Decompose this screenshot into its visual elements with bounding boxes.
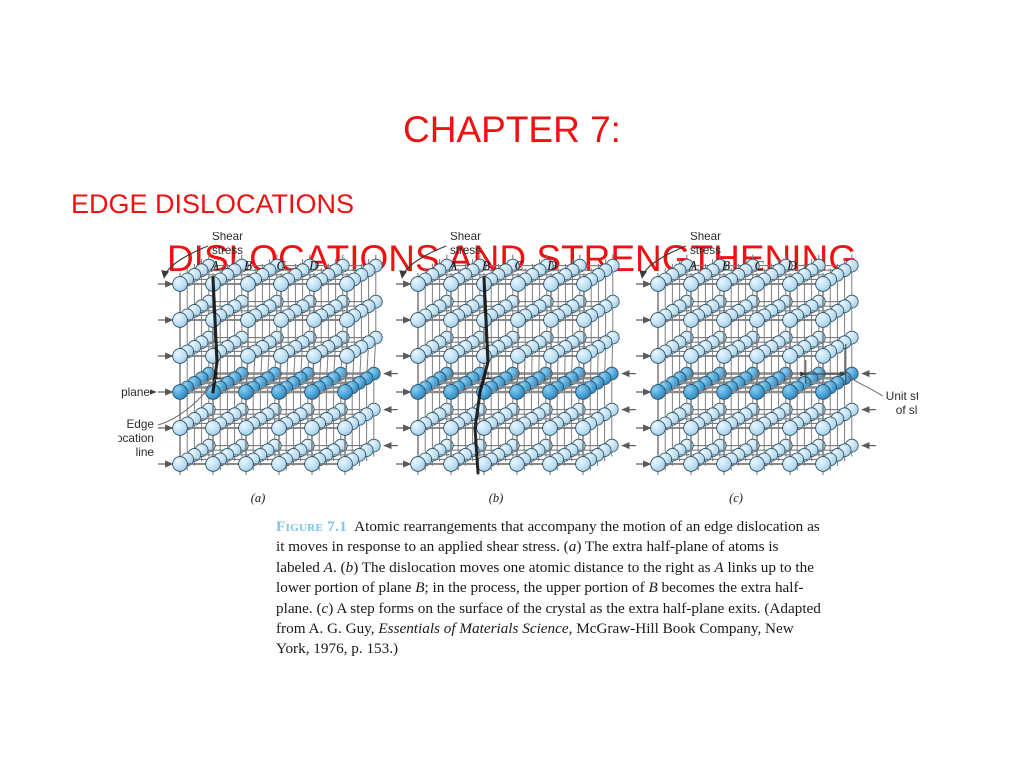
lattice-atom: [816, 421, 831, 436]
slip-plane-atom: [444, 385, 459, 400]
lattice-atom: [477, 313, 492, 328]
lattice-atom: [411, 349, 426, 364]
lattice-atom: [338, 421, 353, 436]
column-label-c: C: [276, 258, 286, 273]
lattice-atom: [576, 421, 591, 436]
lattice-atom: [750, 457, 765, 472]
lattice-atom: [477, 421, 492, 436]
panel-sublabel-c: (c): [729, 491, 743, 505]
lattice-atom: [272, 457, 287, 472]
lattice-atom: [307, 277, 322, 292]
figure-caption: Figure 7.1Atomic rearrangements that acc…: [276, 517, 821, 660]
shear-stress-label-line-1: Shear: [450, 232, 481, 243]
lattice-atom: [717, 457, 732, 472]
lattice-atom: [577, 349, 592, 364]
lattice-atom: [651, 277, 666, 292]
unit-step-leader-line: [848, 376, 883, 396]
panel-sublabel-b: (b): [489, 491, 504, 505]
edge-dislocation-label-line-1: Edge: [126, 417, 154, 431]
lattice-atom: [783, 457, 798, 472]
slip-plane-atom: [338, 385, 353, 400]
lattice-atom: [717, 421, 732, 436]
lattice-atom: [816, 277, 831, 292]
slip-plane-atom: [576, 385, 591, 400]
lattice-atom: [444, 457, 459, 472]
lattice-atom: [511, 349, 526, 364]
lattice-atom: [305, 457, 320, 472]
column-label-a: A: [448, 258, 458, 273]
lattice-atom: [206, 313, 221, 328]
lattice-atom: [783, 349, 798, 364]
figure-7-1-image: ⊥ShearstressABCD(a)⊥ShearstressABCD(b)Sh…: [118, 232, 918, 522]
lattice-atom: [241, 277, 256, 292]
column-label-c: C: [514, 258, 524, 273]
lattice-atom: [239, 421, 254, 436]
lattice-atom: [577, 277, 592, 292]
column-label-b: B: [244, 258, 252, 273]
figure-7-1-svg: ⊥ShearstressABCD(a)⊥ShearstressABCD(b)Sh…: [118, 232, 918, 522]
unit-step-label-line-2: of slip: [896, 403, 918, 417]
lattice-atom: [241, 313, 256, 328]
column-label-c: C: [754, 258, 764, 273]
lattice-atom: [173, 349, 188, 364]
lattice-atom: [338, 457, 353, 472]
column-label-d: D: [308, 258, 319, 273]
lattice-atom: [783, 421, 798, 436]
lattice-atom: [173, 457, 188, 472]
slip-plane-atom: [305, 385, 320, 400]
lattice-atom: [717, 313, 732, 328]
shear-stress-label-line-2: stress: [450, 244, 481, 257]
dislocation-symbol: ⊥: [212, 370, 222, 382]
unit-step-label-line-1: Unit step: [886, 389, 918, 403]
lattice-atom: [272, 421, 287, 436]
panel-sublabel-a: (a): [251, 491, 266, 505]
lattice-atom: [444, 421, 459, 436]
lattice-atom: [816, 457, 831, 472]
lattice-atom: [544, 313, 559, 328]
lattice-atom: [651, 457, 666, 472]
lattice-atom: [444, 277, 459, 292]
lattice-atom: [717, 349, 732, 364]
slide-canvas: CHAPTER 7: DISLOCATIONS AND STRENGTHENIN…: [0, 0, 1024, 768]
slip-plane-atom: [651, 385, 666, 400]
lattice-atom: [544, 277, 559, 292]
column-label-a: A: [688, 258, 698, 273]
section-heading: EDGE DISLOCATIONS: [71, 189, 354, 220]
lattice-atom: [750, 421, 765, 436]
lattice-atom: [411, 457, 426, 472]
slip-plane-atom: [750, 385, 765, 400]
slip-plane-atom: [173, 385, 188, 400]
lattice-atom: [651, 313, 666, 328]
lattice-atom: [816, 313, 831, 328]
shear-stress-label-line-2: stress: [690, 244, 721, 257]
slip-plane-label: Slip plane: [118, 385, 150, 399]
lattice-atom: [411, 277, 426, 292]
lattice-panel-b: [396, 246, 636, 475]
slip-plane-atom: [239, 385, 254, 400]
column-label-d: D: [546, 258, 557, 273]
lattice-atom: [206, 421, 221, 436]
lattice-atom: [684, 349, 699, 364]
column-label-d: D: [786, 258, 797, 273]
slip-plane-atom: [272, 385, 287, 400]
dislocation-symbol: ⊥: [483, 370, 493, 382]
lattice-atom: [510, 457, 525, 472]
lattice-panel-a: [158, 246, 398, 475]
lattice-atom: [307, 313, 322, 328]
lattice-atom: [511, 277, 526, 292]
lattice-atom: [750, 277, 765, 292]
lattice-atom: [510, 421, 525, 436]
lattice-atom: [717, 277, 732, 292]
edge-dislocation-label-line-2: dislocation: [118, 431, 154, 445]
lattice-atom: [305, 421, 320, 436]
lattice-atom: [307, 349, 322, 364]
lattice-atom: [173, 277, 188, 292]
lattice-atom: [239, 457, 254, 472]
lattice-atom: [444, 349, 459, 364]
slip-plane-atom: [543, 385, 558, 400]
lattice-atom: [543, 457, 558, 472]
column-label-b: B: [482, 258, 490, 273]
lattice-atom: [511, 313, 526, 328]
lattice-atom: [206, 457, 221, 472]
lattice-atom: [783, 277, 798, 292]
slip-plane-atom: [816, 385, 831, 400]
figure-caption-label: Figure 7.1: [276, 518, 347, 535]
lattice-atom: [544, 349, 559, 364]
lattice-atom: [816, 349, 831, 364]
shear-stress-label-line-1: Shear: [212, 232, 243, 243]
lattice-atom: [783, 313, 798, 328]
lattice-atom: [340, 349, 355, 364]
lattice-atom: [173, 313, 188, 328]
lattice-atom: [274, 313, 289, 328]
lattice-atom: [340, 313, 355, 328]
column-label-a: A: [210, 258, 220, 273]
lattice-atom: [750, 349, 765, 364]
lattice-atom: [684, 457, 699, 472]
figure-caption-body: Atomic rearrangements that accompany the…: [276, 518, 821, 657]
slip-plane-atom: [684, 385, 699, 400]
lattice-atom: [576, 457, 591, 472]
lattice-atom: [577, 313, 592, 328]
slip-plane-atom: [510, 385, 525, 400]
lattice-atom: [444, 313, 459, 328]
slip-plane-atom: [411, 385, 426, 400]
lattice-atom: [411, 421, 426, 436]
column-label-b: B: [722, 258, 730, 273]
lattice-atom: [411, 313, 426, 328]
slip-plane-atom: [783, 385, 798, 400]
lattice-atom: [684, 421, 699, 436]
lattice-atom: [241, 349, 256, 364]
lattice-atom: [684, 313, 699, 328]
lattice-atom: [651, 349, 666, 364]
lattice-atom: [750, 313, 765, 328]
edge-dislocation-label-line-3: line: [136, 445, 155, 459]
lattice-atom: [274, 277, 289, 292]
shear-stress-label-line-2: stress: [212, 244, 243, 257]
lattice-atom: [651, 421, 666, 436]
lattice-atom: [340, 277, 355, 292]
slip-plane-atom: [717, 385, 732, 400]
lattice-atom: [173, 421, 188, 436]
lattice-atom: [684, 277, 699, 292]
lattice-panel-c: [636, 246, 876, 475]
page-title-line-1: CHAPTER 7:: [0, 108, 1024, 151]
lattice-atom: [274, 349, 289, 364]
shear-stress-label-line-1: Shear: [690, 232, 721, 243]
lattice-atom: [543, 421, 558, 436]
